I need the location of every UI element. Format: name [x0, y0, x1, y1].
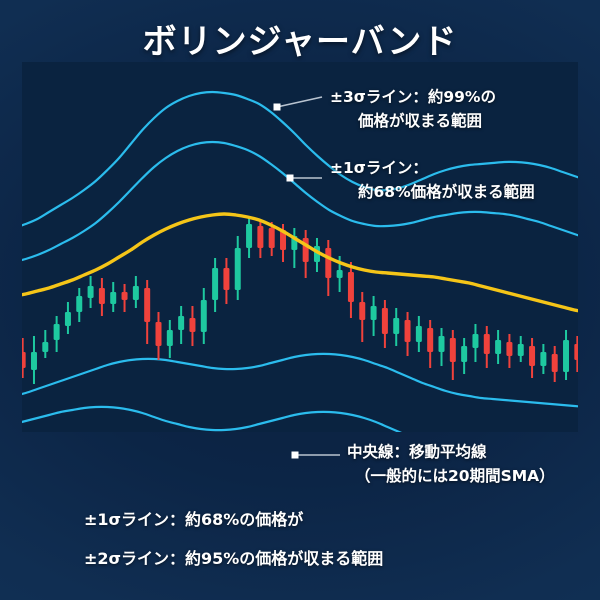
bollinger-bands-infographic: ボリンジャーバンド ±3σライン：約99%の 価格が収まる範 [0, 0, 600, 600]
annotation-sigma3-line2: 価格が収まる範囲 [330, 109, 496, 133]
leader-line [292, 452, 341, 459]
annotation-middle-line1: 中央線：移動平均線 [347, 443, 487, 461]
annotation-sigma1-line2: 約68%価格が収まる範囲 [330, 180, 535, 204]
annotation-middle-line2: （一般的には20期間SMA） [347, 464, 555, 488]
footnote-sigma2: ±2σライン：約95%の価格が収まる範囲 [84, 545, 383, 569]
annotation-middle-line: 中央線：移動平均線 （一般的には20期間SMA） [347, 440, 555, 488]
annotation-sigma3: ±3σライン：約99%の 価格が収まる範囲 [330, 85, 496, 133]
annotation-sigma1-line1: ±1σライン： [330, 159, 428, 177]
footnote-sigma1: ±1σライン：約68%の価格が [84, 506, 303, 530]
page-title: ボリンジャーバンド [0, 14, 600, 63]
annotation-sigma1: ±1σライン： 約68%価格が収まる範囲 [330, 156, 535, 204]
annotation-sigma3-line1: ±3σライン：約99%の [330, 88, 496, 106]
